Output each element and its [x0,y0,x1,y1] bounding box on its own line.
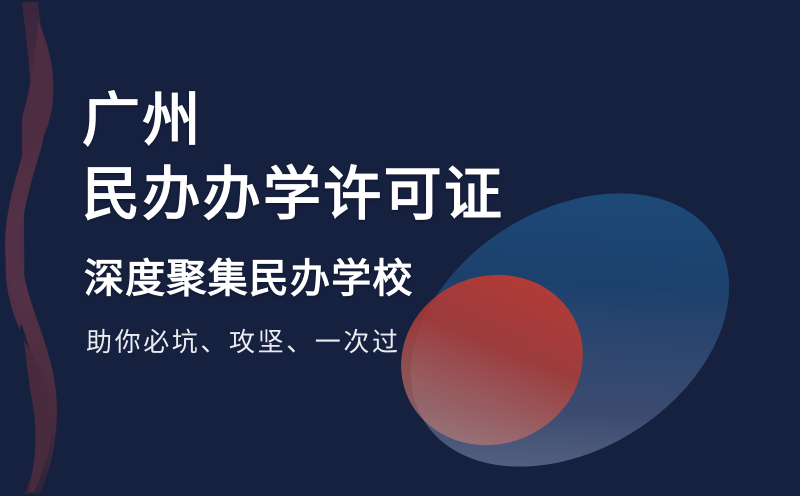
banner-tagline: 助你必坑、攻坚、一次过 [86,330,401,356]
banner-title-line-2: 民办办学许可证 [82,166,504,224]
banner-subtitle: 深度聚集民办学校 [84,259,414,299]
banner-text-content: 广州 民办办学许可证 深度聚集民办学校 助你必坑、攻坚、一次过 [0,0,800,496]
promo-banner: 广州 民办办学许可证 深度聚集民办学校 助你必坑、攻坚、一次过 [0,0,800,496]
banner-title-line-1: 广州 [82,92,203,150]
